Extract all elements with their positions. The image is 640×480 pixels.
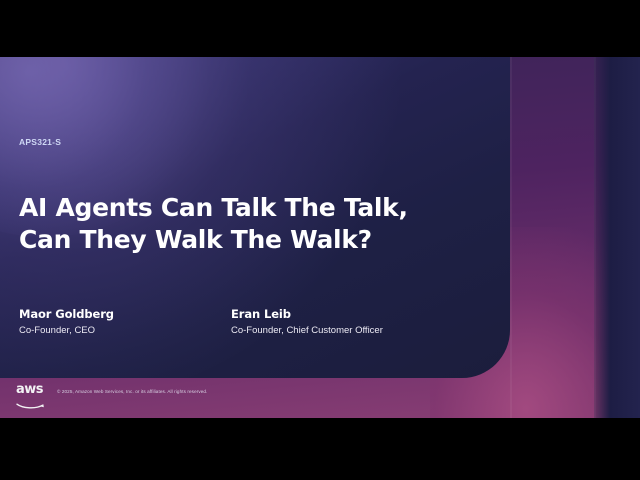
copyright-text: © 2025, Amazon Web Services, Inc. or its… — [57, 389, 207, 394]
speaker-role: Co-Founder, Chief Customer Officer — [231, 325, 383, 337]
title-line-1: AI Agents Can Talk The Talk, — [19, 192, 489, 224]
letterbox-bar-bottom — [0, 418, 640, 480]
title-line-2: Can They Walk The Walk? — [19, 224, 489, 256]
page-title: AI Agents Can Talk The Talk, Can They Wa… — [19, 192, 489, 256]
aws-smile-icon — [16, 401, 46, 409]
speaker-item: Maor Goldberg Co-Founder, CEO — [19, 307, 231, 337]
presentation-slide: APS321-S AI Agents Can Talk The Talk, Ca… — [0, 57, 640, 418]
speaker-role: Co-Founder, CEO — [19, 325, 231, 337]
video-player-surface: APS321-S AI Agents Can Talk The Talk, Ca… — [0, 0, 640, 480]
background-right-band — [594, 57, 640, 418]
letterbox-bar-top — [0, 0, 640, 57]
speaker-item: Eran Leib Co-Founder, Chief Customer Off… — [231, 307, 383, 337]
aws-wordmark: aws — [16, 383, 50, 396]
speaker-name: Maor Goldberg — [19, 307, 231, 321]
slide-content: APS321-S AI Agents Can Talk The Talk, Ca… — [0, 57, 520, 378]
session-code: APS321-S — [19, 137, 61, 147]
slide-footer: aws © 2025, Amazon Web Services, Inc. or… — [0, 378, 640, 418]
speaker-list: Maor Goldberg Co-Founder, CEO Eran Leib … — [19, 307, 499, 337]
speaker-name: Eran Leib — [231, 307, 383, 321]
aws-logo: aws — [16, 383, 50, 405]
